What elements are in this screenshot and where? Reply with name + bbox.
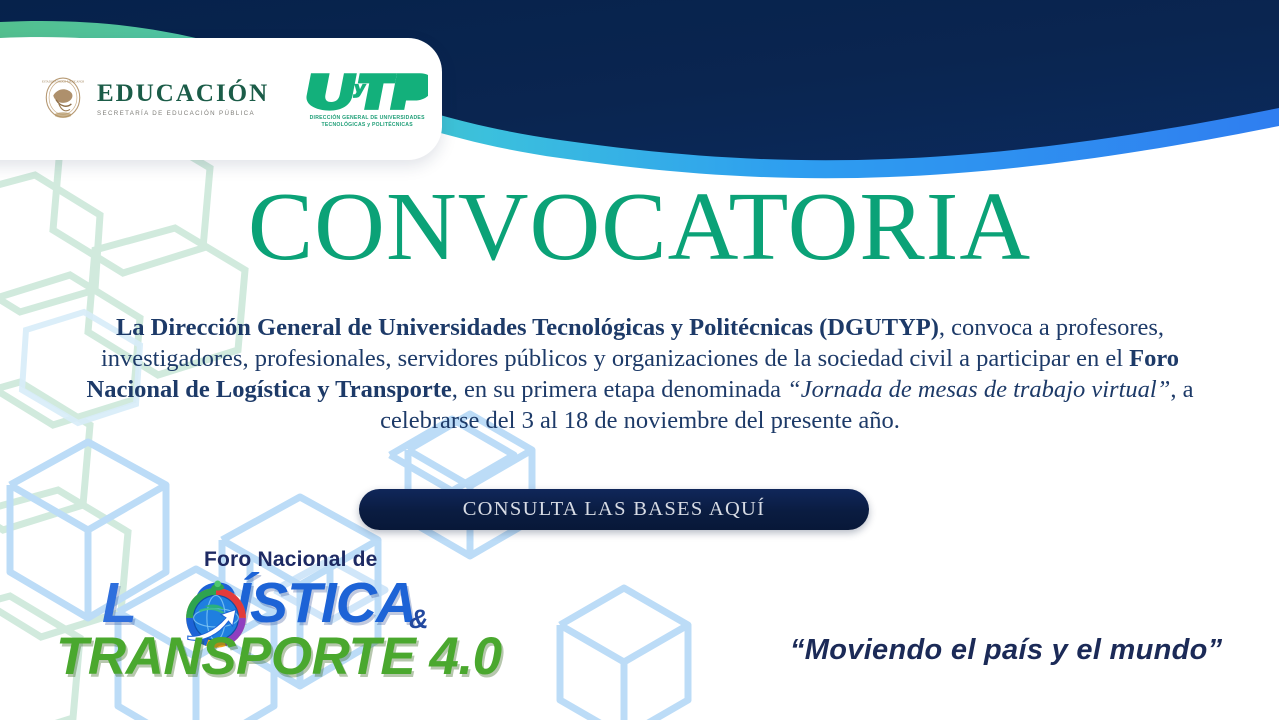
paragraph-segment-italic-5: “Jornada de mesas de trabajo virtual” (787, 376, 1170, 403)
foro-logistica-transporte-logo: Foro Nacional de LGÍSTICA & TRANSPORTE 4… (52, 548, 472, 688)
education-subtitle: SECRETARÍA DE EDUCACIÓN PÚBLICA (97, 111, 269, 117)
logo-card: ESTADOS UNIDOS MEXICANOS EDUCACIÓN SECRE… (0, 38, 442, 160)
svg-text:ESTADOS UNIDOS MEXICANOS: ESTADOS UNIDOS MEXICANOS (42, 79, 84, 83)
consulta-bases-button[interactable]: CONSULTA LAS BASES AQUÍ (359, 489, 869, 530)
paragraph-segment-4: , en su primera etapa denominada (452, 376, 787, 403)
utp-subtitle-line2: TECNOLÓGICAS y POLITÉCNICAS (322, 122, 413, 128)
convocatoria-paragraph: La Dirección General de Universidades Te… (64, 312, 1216, 436)
poster-canvas: ESTADOS UNIDOS MEXICANOS EDUCACIÓN SECRE… (0, 0, 1279, 720)
utp-subtitle-line1: DIRECCIÓN GENERAL DE UNIVERSIDADES (310, 115, 425, 121)
paragraph-segment-bold-1: La Dirección General de Universidades Te… (116, 314, 939, 341)
education-logo: ESTADOS UNIDOS MEXICANOS EDUCACIÓN SECRE… (42, 76, 269, 122)
foro-logo-transporte: TRANSPORTE 4.0 (56, 626, 502, 687)
utyp-wordmark-icon (306, 69, 428, 112)
page-title: CONVOCATORIA (0, 178, 1279, 276)
consulta-bases-label: CONSULTA LAS BASES AQUÍ (463, 498, 766, 521)
tagline: “Moviendo el país y el mundo” (790, 634, 1223, 667)
utp-subtitle: DIRECCIÓN GENERAL DE UNIVERSIDADES TECNO… (303, 115, 431, 130)
mexico-coat-of-arms-icon: ESTADOS UNIDOS MEXICANOS (42, 76, 84, 122)
education-title: EDUCACIÓN (97, 81, 269, 106)
foro-logo-line1: Foro Nacional de (204, 548, 378, 572)
utp-logo: DIRECCIÓN GENERAL DE UNIVERSIDADES TECNO… (303, 69, 431, 130)
